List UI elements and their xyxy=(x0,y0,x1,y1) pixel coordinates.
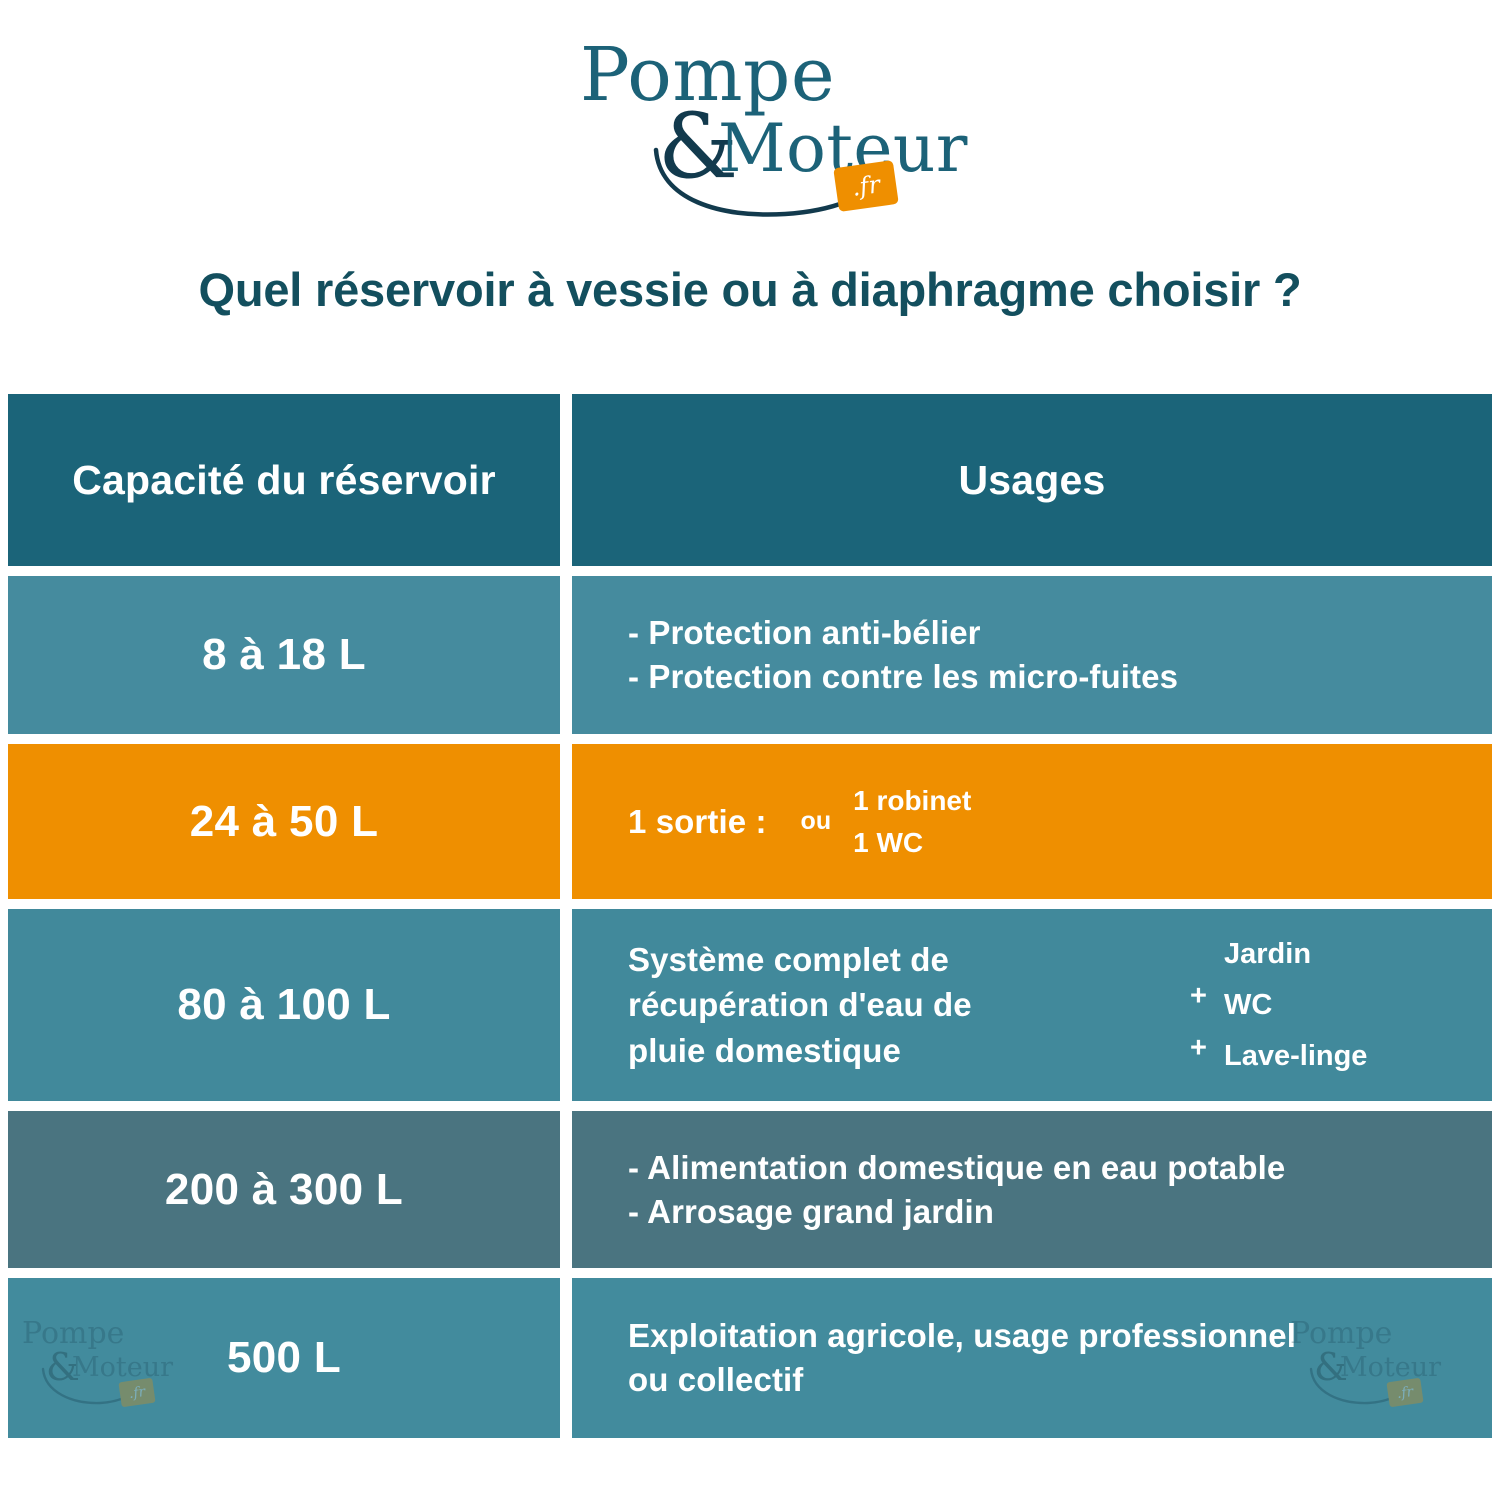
capacity-value: 24 à 50 L xyxy=(190,797,379,847)
capacity-value: 8 à 18 L xyxy=(202,630,366,680)
usage-line: - Arrosage grand jardin xyxy=(628,1190,1285,1234)
capacity-value: 200 à 300 L xyxy=(165,1165,403,1215)
capacity-cell-80-100: 80 à 100 L xyxy=(8,909,560,1101)
logo-fr-label: .fr xyxy=(850,172,881,200)
table-row: 24 à 50 L 1 sortie : ou 1 robinet 1 WC xyxy=(8,744,1492,899)
usage-cell-80-100: Système complet de récupération d'eau de… xyxy=(572,909,1492,1101)
sortie-connector: ou xyxy=(801,807,832,836)
table-row: 200 à 300 L - Alimentation domestique en… xyxy=(8,1111,1492,1268)
usage-cell-24-50: 1 sortie : ou 1 robinet 1 WC xyxy=(572,744,1492,899)
usage-line: récupération d'eau de xyxy=(628,982,1098,1028)
usage-line: - Alimentation domestique en eau potable xyxy=(628,1146,1285,1190)
table-row: Pompe & Moteur .fr 500 L Exploitation ag… xyxy=(8,1278,1492,1438)
capacity-cell-500: Pompe & Moteur .fr 500 L xyxy=(8,1278,560,1438)
capacity-cell-200-300: 200 à 300 L xyxy=(8,1111,560,1268)
system-wrap: Système complet de récupération d'eau de… xyxy=(572,937,1492,1074)
sortie-options: 1 robinet 1 WC xyxy=(853,784,971,858)
page-title: Quel réservoir à vessie ou à diaphragme … xyxy=(0,262,1500,317)
header-label-capacity: Capacité du réservoir xyxy=(72,455,496,505)
watermark-text-moteur: Moteur xyxy=(72,1352,173,1383)
list-item: Lave-linge xyxy=(1190,1042,1367,1071)
usage-cell-8-18: - Protection anti-bélier - Protection co… xyxy=(572,576,1492,734)
watermark-ampersand: & xyxy=(46,1348,80,1386)
table-row: 8 à 18 L - Protection anti-bélier - Prot… xyxy=(8,576,1492,734)
watermark-logo-right: Pompe & Moteur .fr xyxy=(1284,1314,1444,1426)
usage-line: pluie domestique xyxy=(628,1028,1098,1074)
sortie-option: 1 WC xyxy=(853,826,971,859)
watermark-fr-badge: .fr xyxy=(118,1378,155,1407)
watermark-ampersand: & xyxy=(1314,1348,1348,1386)
plus-sign-2: + xyxy=(1190,1034,1207,1063)
watermark-text-pompe: Pompe xyxy=(22,1316,124,1351)
watermark-fr-label: .fr xyxy=(1396,1383,1414,1401)
capacity-value: 500 L xyxy=(227,1333,341,1383)
watermark-swoosh-icon xyxy=(1308,1366,1418,1416)
watermark-fr-badge: .fr xyxy=(1386,1378,1423,1407)
capacity-cell-24-50: 24 à 50 L xyxy=(8,744,560,899)
usage-text: - Alimentation domestique en eau potable… xyxy=(572,1146,1285,1233)
usage-line: - Protection anti-bélier xyxy=(628,611,1178,655)
usage-line: ou collectif xyxy=(628,1358,1296,1402)
plus-sign-1: + xyxy=(1190,982,1207,1011)
sortie-label: 1 sortie : xyxy=(628,803,767,841)
system-components-list: + + Jardin WC Lave-linge xyxy=(1190,940,1367,1071)
watermark-swoosh-icon xyxy=(40,1366,150,1416)
capacity-cell-8-18: 8 à 18 L xyxy=(8,576,560,734)
table-header-row: Capacité du réservoir Usages xyxy=(8,394,1492,566)
watermark-text-pompe: Pompe xyxy=(1290,1316,1392,1351)
usage-cell-500: Exploitation agricole, usage professionn… xyxy=(572,1278,1492,1438)
header-label-usages: Usages xyxy=(958,455,1105,505)
usage-line: Exploitation agricole, usage professionn… xyxy=(628,1314,1296,1358)
watermark-fr-label: .fr xyxy=(128,1383,146,1401)
sortie-block: 1 sortie : ou 1 robinet 1 WC xyxy=(572,784,971,858)
logo-fr-badge: .fr xyxy=(833,160,899,212)
usage-text: - Protection anti-bélier - Protection co… xyxy=(572,611,1178,698)
logo-mark: Pompe & Moteur .fr xyxy=(570,24,930,214)
usage-line: Système complet de xyxy=(628,937,1098,983)
watermark-text-moteur: Moteur xyxy=(1340,1352,1441,1383)
list-item: Jardin xyxy=(1190,940,1367,969)
header-cell-capacity: Capacité du réservoir xyxy=(8,394,560,566)
system-description: Système complet de récupération d'eau de… xyxy=(628,937,1098,1074)
usage-cell-200-300: - Alimentation domestique en eau potable… xyxy=(572,1111,1492,1268)
capacity-value: 80 à 100 L xyxy=(177,980,390,1030)
usage-line: - Protection contre les micro-fuites xyxy=(628,655,1178,699)
brand-logo: Pompe & Moteur .fr xyxy=(0,24,1500,224)
table-row: 80 à 100 L Système complet de récupérati… xyxy=(8,909,1492,1101)
watermark-logo-left: Pompe & Moteur .fr xyxy=(16,1314,176,1426)
capacity-usage-table: Capacité du réservoir Usages 8 à 18 L - … xyxy=(8,394,1492,1448)
sortie-option: 1 robinet xyxy=(853,784,971,817)
list-item: WC xyxy=(1190,991,1367,1020)
header-cell-usages: Usages xyxy=(572,394,1492,566)
usage-text: Exploitation agricole, usage professionn… xyxy=(572,1314,1296,1401)
